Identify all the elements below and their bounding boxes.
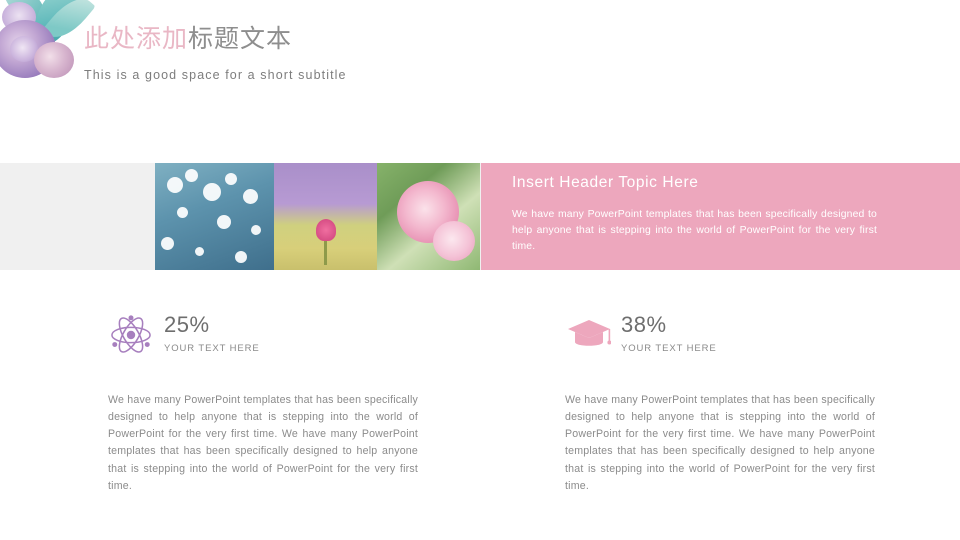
photo-gallery: [155, 163, 480, 270]
slide-header: 此处添加标题文本 This is a good space for a shor…: [84, 24, 347, 82]
page-subtitle: This is a good space for a short subtitl…: [84, 68, 347, 82]
content-column-right: 38% YOUR TEXT HERE We have many PowerPoi…: [561, 312, 901, 495]
stat-value: 38%: [621, 314, 717, 336]
floral-decoration: [0, 0, 96, 78]
stat-texts: 38% YOUR TEXT HERE: [617, 312, 717, 354]
pink-peony-photo: [377, 163, 480, 270]
stat-label: YOUR TEXT HERE: [621, 343, 717, 354]
banner-strip: Insert Header Topic Here We have many Po…: [0, 163, 960, 270]
banner-text-panel: Insert Header Topic Here We have many Po…: [481, 163, 960, 270]
atom-icon-svg: [110, 314, 152, 356]
page-title: 此处添加标题文本: [84, 24, 347, 54]
white-blossom-photo: [155, 163, 274, 270]
stat-value: 25%: [164, 314, 260, 336]
banner-heading: Insert Header Topic Here: [512, 174, 698, 192]
page-title-secondary: 标题文本: [188, 25, 292, 53]
banner-paragraph: We have many PowerPoint templates that h…: [512, 207, 877, 255]
stat-texts: 25% YOUR TEXT HERE: [160, 312, 260, 354]
atom-icon: [104, 312, 160, 360]
stat-label: YOUR TEXT HERE: [164, 343, 260, 354]
stat-block: 25% YOUR TEXT HERE: [104, 312, 444, 360]
body-paragraph: We have many PowerPoint templates that h…: [565, 392, 875, 495]
body-paragraph: We have many PowerPoint templates that h…: [108, 392, 418, 495]
content-column-left: 25% YOUR TEXT HERE We have many PowerPoi…: [104, 312, 444, 495]
rose-icon: [34, 42, 74, 78]
graduation-cap-icon: [561, 312, 617, 360]
stat-block: 38% YOUR TEXT HERE: [561, 312, 901, 360]
page-title-primary: 此处添加: [84, 25, 188, 53]
purple-field-photo: [274, 163, 377, 270]
graduation-cap-icon-svg: [567, 318, 611, 352]
